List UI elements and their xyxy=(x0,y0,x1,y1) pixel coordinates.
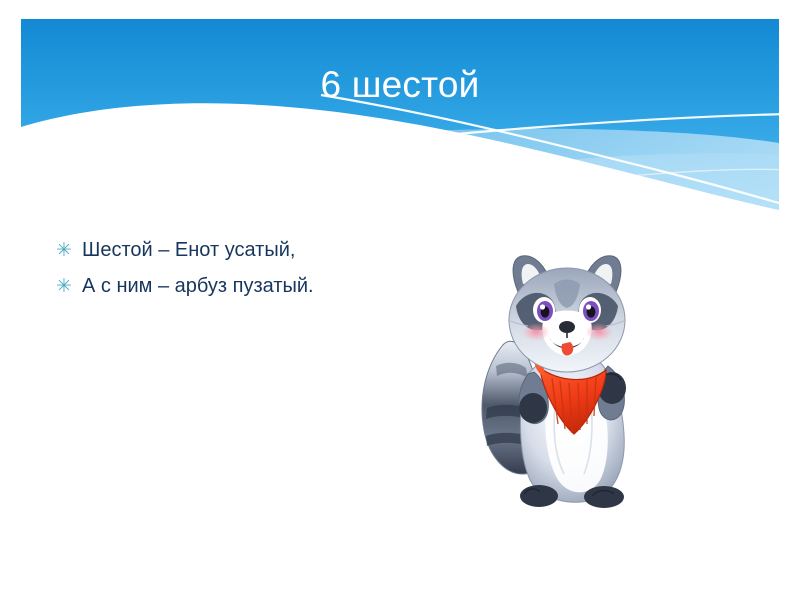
header-banner xyxy=(21,19,779,218)
slide-title: 6 шестой xyxy=(0,62,800,108)
raccoon-head xyxy=(508,256,626,372)
list-item: ✳ А с ним – арбуз пузатый. xyxy=(56,274,456,299)
raccoon-eye-right xyxy=(579,297,601,323)
asterisk-bullet-icon: ✳ xyxy=(56,274,82,299)
body-text-block: ✳ Шестой – Енот усатый, ✳ А с ним – арбу… xyxy=(56,238,456,310)
list-item: ✳ Шестой – Енот усатый, xyxy=(56,238,456,263)
raccoon-nose xyxy=(559,321,575,333)
slide-canvas: 6 шестой ✳ Шестой – Енот усатый, ✳ А с н… xyxy=(0,0,800,600)
asterisk-bullet-icon: ✳ xyxy=(56,238,82,263)
raccoon-eye-left xyxy=(533,297,555,323)
raccoon-illustration xyxy=(466,248,656,514)
raccoon-graphic xyxy=(466,248,656,514)
banner-graphic xyxy=(21,19,779,218)
list-item-label: А с ним – арбуз пузатый. xyxy=(82,274,314,299)
raccoon-left-paw xyxy=(519,393,547,423)
raccoon-body-group xyxy=(482,256,626,508)
list-item-label: Шестой – Енот усатый, xyxy=(82,238,295,263)
